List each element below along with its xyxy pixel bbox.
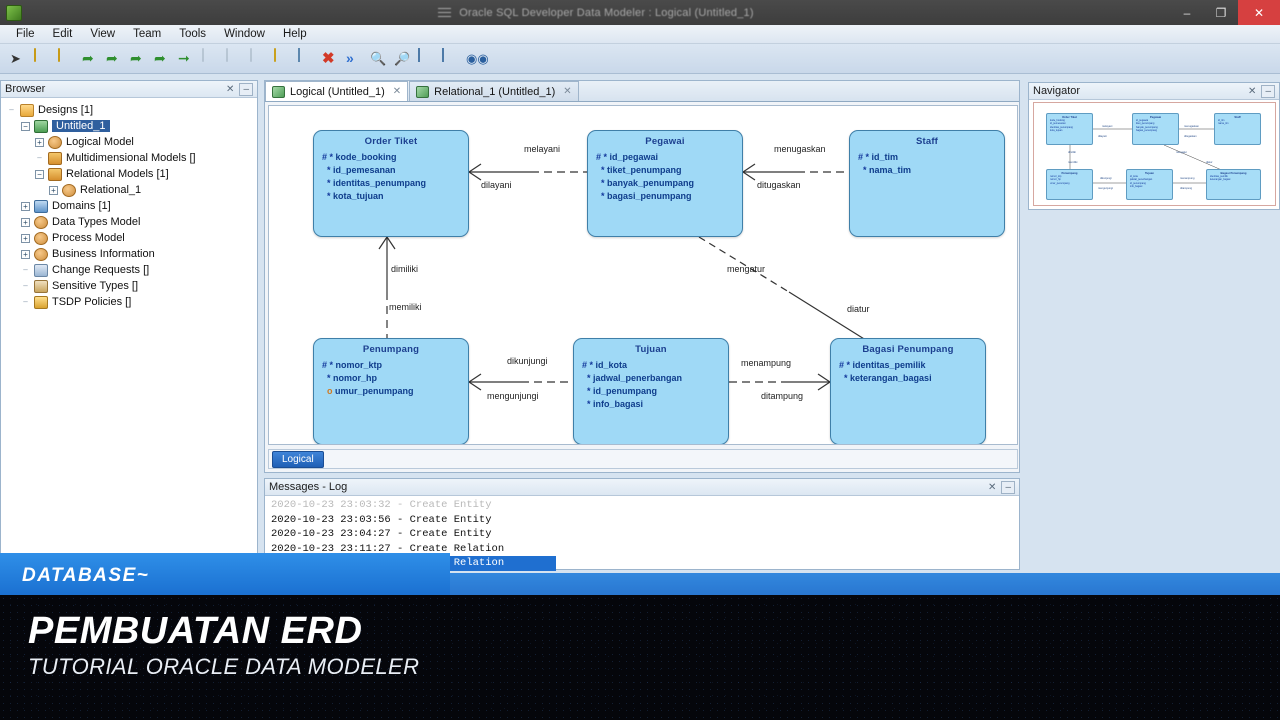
entity-attribute: * bagasi_penumpang [596,190,742,203]
navigator-panel-title: Navigator [1033,85,1243,97]
attribute-name: jadwal_penerbangan [593,373,682,383]
sens-icon [34,280,48,293]
delete-icon[interactable]: ✖ [322,49,341,68]
log-line[interactable]: 2020-10-23 23:04:27 - Create Entity [271,527,1013,542]
navigator-relationship-label: dimiliki [1068,151,1076,154]
attribute-name: identitas_penumpang [333,178,426,188]
expander-icon[interactable]: − [35,170,44,179]
navigator-entity-attribute: nama_tim [1215,122,1260,125]
navigator-thumbnail[interactable]: Order Tiketkode_bookingid_pemesananident… [1033,102,1276,206]
window-icon[interactable] [442,49,461,68]
relationship-label[interactable]: ditugaskan [757,180,801,190]
model-icon [62,184,76,197]
tree-connector-icon: – [21,282,30,291]
entity-box[interactable]: Penumpang# * nomor_ktp * nomor_hp o umur… [313,338,469,445]
relation-icon[interactable]: ➦ [154,49,173,68]
tree-item[interactable]: –Multidimensional Models [] [3,150,255,166]
entity-attribute: # * id_pegawai [596,151,742,164]
title-bar: Oracle SQL Developer Data Modeler : Logi… [0,0,1280,25]
entity-attribute: * identitas_penumpang [322,177,468,190]
tree-item-label: Sensitive Types [] [52,280,138,292]
navigator-relationship-label: mengatur [1176,151,1187,154]
log-panel-title: Messages - Log [269,481,983,493]
diagram-canvas[interactable]: Order Tiket# * kode_booking * id_pemesan… [268,105,1018,445]
relationship-label[interactable]: mengatur [727,264,765,274]
relationship-label[interactable]: mengunjungi [487,391,539,401]
relationship-label[interactable]: menugaskan [774,144,826,154]
tsdp-icon [34,296,48,309]
browser-panel-header: Browser ✕ – [1,81,257,98]
diagram-entities-layer: Order Tiket# * kode_booking * id_pemesan… [269,106,1017,444]
model-icon [34,232,48,245]
tree-item[interactable]: −Relational Models [1] [3,166,255,182]
navigator-relationship-label: memiliki [1068,161,1077,164]
application-window: Oracle SQL Developer Data Modeler : Logi… [0,0,1280,600]
view-icon[interactable]: ➦ [106,49,125,68]
entity-title: Pegawai [588,131,742,147]
tree-item[interactable]: +Logical Model [3,134,255,150]
entity-attribute: # * id_tim [858,151,1004,164]
attribute-name: nomor_ktp [336,360,383,370]
tree-item-label: Business Information [52,248,155,260]
box2-icon [226,49,245,68]
tree-item-label: Relational_1 [80,184,141,196]
model-icon [34,248,48,261]
attribute-name: id_pegawai [610,152,659,162]
attribute-name: tiket_penumpang [607,165,682,175]
fit-screen-icon[interactable] [418,49,437,68]
tree-item[interactable]: –TSDP Policies [] [3,294,255,310]
navigator-entity: Pegawaiid_pegawaitiket_penumpangbanyak_p… [1132,113,1179,145]
zoom-out-icon[interactable]: 🔎 [394,49,413,68]
tree-item-label: Data Types Model [52,216,140,228]
attribute-name: id_kota [596,360,628,370]
table-icon[interactable]: ➦ [130,49,149,68]
navigator-panel-header: Navigator ✕ – [1029,83,1279,100]
design-icon [34,120,48,133]
tree-item[interactable]: +Process Model [3,230,255,246]
relationship-label[interactable]: ditampung [761,391,803,401]
entity-icon[interactable]: ➦ [82,49,101,68]
menu-item-edit[interactable]: Edit [45,26,81,42]
menu-hamburger-icon[interactable] [438,5,451,20]
menu-item-window[interactable]: Window [216,26,273,42]
relationship-label[interactable]: dikunjungi [507,356,548,366]
menu-item-file[interactable]: File [8,26,43,42]
tree-item[interactable]: +Relational_1 [3,182,255,198]
primary-key-marker: # [322,360,330,370]
tree-item-label: Multidimensional Models [] [66,152,196,164]
entity-attribute: * jadwal_penerbangan [582,372,728,385]
primary-key-marker: # [839,360,847,370]
video-title-banner: DATABASE~ PEMBUATAN ERD TUTORIAL ORACLE … [0,553,1280,720]
note-icon[interactable] [274,49,293,68]
entity-title: Order Tiket [314,131,468,147]
tree-item[interactable]: +Business Information [3,246,255,262]
open-model-icon[interactable] [58,49,77,68]
navigator-entity: Staffid_timnama_tim [1214,113,1261,145]
relationship-label[interactable]: memiliki [389,302,422,312]
log-line[interactable]: 2020-10-23 23:03:56 - Create Entity [271,513,1013,528]
close-icon[interactable]: ✕ [988,482,996,493]
folder-icon [20,104,34,117]
tree-item-label: TSDP Policies [] [52,296,131,308]
tree-item[interactable]: +Domains [1] [3,198,255,214]
navigator-entity-attribute: bagasi_penumpang [1133,129,1178,132]
entity-attribute: * nomor_hp [322,372,468,385]
zoom-in-icon[interactable]: 🔍 [370,49,389,68]
log-line[interactable]: 2020-10-23 23:03:32 - Create Entity [271,498,1013,513]
log-panel-header: Messages - Log ✕ – [265,479,1019,496]
attribute-name: umur_penumpang [335,386,414,396]
image-icon[interactable] [298,49,317,68]
tree-item-label: Change Requests [] [52,264,149,276]
entity-attribute: * keterangan_bagasi [839,372,985,385]
navigator-entity: Tujuanid_kotajadwal_penerbanganid_penump… [1126,169,1173,200]
entity-title: Bagasi Penumpang [831,339,985,355]
navigator-entity-attribute: kota_tujuan [1047,129,1092,132]
attribute-name: nomor_hp [333,373,377,383]
entity-attribute: # * id_kota [582,359,728,372]
view-logical-button[interactable]: Logical [272,451,324,468]
banner-subtitle: TUTORIAL ORACLE DATA MODELER [28,654,419,680]
navigator-entity-attribute: umur_penumpang [1047,182,1092,185]
relationship-label[interactable]: dimiliki [391,264,418,274]
tree-item-label: Domains [1] [52,200,111,212]
minimize-icon[interactable]: – [1261,85,1275,98]
navigator-entity: Order Tiketkode_bookingid_pemesananident… [1046,113,1093,145]
menu-item-team[interactable]: Team [125,26,169,42]
attribute-name: id_pemesanan [333,165,396,175]
banner-kicker: DATABASE~ [22,565,149,587]
window-title: Oracle SQL Developer Data Modeler : Logi… [459,7,753,19]
close-icon[interactable]: ✕ [226,84,234,95]
entity-attribute: * id_penumpang [582,385,728,398]
attribute-name: kode_booking [336,152,397,162]
diagram-editor: Logical (Untitled_1)✕Relational_1 (Untit… [264,80,1020,473]
entity-title: Penumpang [314,339,468,355]
entity-attribute: # * identitas_pemilik [839,359,985,372]
entity-attribute: # * nomor_ktp [322,359,468,372]
maximize-button[interactable]: ❐ [1204,0,1238,25]
tree-item-label: Process Model [52,232,125,244]
expander-icon[interactable]: + [35,138,44,147]
expander-icon[interactable]: + [21,202,30,211]
entity-attribute: * nama_tim [858,164,1004,177]
entity-attribute-list: # * identitas_pemilik * keterangan_bagas… [831,355,985,385]
navigator-panel: Navigator ✕ – Order Tiketkode_bookingid_… [1028,82,1280,210]
attribute-name: id_penumpang [593,386,657,396]
expander-icon[interactable]: + [49,186,58,195]
multi-icon [48,168,62,181]
attribute-name: keterangan_bagasi [850,373,932,383]
navigator-entity-attribute: info_bagasi [1127,185,1172,188]
forward-icon[interactable]: » [346,49,365,68]
primary-key-marker: # [322,152,330,162]
optional-marker: o [327,386,335,396]
entity-attribute: * tiket_penumpang [596,164,742,177]
navigator-relationship-label: mengunjungi [1098,187,1113,190]
new-model-icon[interactable] [34,49,53,68]
close-icon[interactable]: ✕ [1248,86,1256,97]
entity-attribute-list: # * nomor_ktp * nomor_hp o umur_penumpan… [314,355,468,398]
navigator-entity: Bagasi Penumpangidentitas_pemilikketeran… [1206,169,1261,200]
domain-icon [34,200,48,213]
view-mode-bar: Logical [268,449,1018,469]
attribute-name: kota_tujuan [333,191,384,201]
entity-attribute: * info_bagasi [582,398,728,411]
browser-panel: Browser ✕ – –Designs [1]−Untitled_1+Logi… [0,80,258,570]
tree-item-label: Logical Model [66,136,134,148]
toolbar: ➤ ➦ ➦ ➦ ➦ ➞ ✖ » 🔍 🔎 ◉◉ [0,44,1280,74]
tree-connector-icon: – [7,106,16,115]
navigator-entity: Penumpangnomor_ktpnomor_hpumur_penumpang [1046,169,1093,200]
app-logo-icon [6,5,22,21]
expander-icon[interactable]: + [21,250,30,259]
attribute-name: identitas_pemilik [853,360,926,370]
navigator-relationship-label: diatur [1206,161,1213,164]
tree-item[interactable]: –Designs [1] [3,102,255,118]
editor-tab-strip: Logical (Untitled_1)✕Relational_1 (Untit… [265,81,1019,102]
primary-key-marker: # [582,360,590,370]
menu-item-help[interactable]: Help [275,26,315,42]
expander-icon[interactable]: + [21,234,30,243]
menu-bar: File Edit View Team Tools Window Help [0,25,1280,44]
entity-attribute: o umur_penumpang [322,385,468,398]
close-icon[interactable]: ✕ [393,86,401,97]
tree-item-label: Designs [1] [38,104,93,116]
box3-icon [250,49,269,68]
navigator-relationship-label: menugaskan [1184,125,1199,128]
pointer-icon[interactable]: ➤ [10,49,29,68]
minimize-icon[interactable]: – [239,83,253,96]
menu-item-tools[interactable]: Tools [171,26,214,42]
relationship-label[interactable]: dilayani [481,180,512,190]
model-icon [34,216,48,229]
editor-tab-label: Logical (Untitled_1) [290,86,385,98]
attribute-name: info_bagasi [593,399,643,409]
box1-icon [202,49,221,68]
entity-title: Staff [850,131,1004,147]
tree-item-label: Untitled_1 [52,120,110,132]
primary-key-marker: # [858,152,866,162]
tree-connector-icon: – [35,154,44,163]
model-icon [48,136,62,149]
search-icon[interactable]: ◉◉ [466,49,485,68]
relationship-label[interactable]: diatur [847,304,870,314]
navigator-relationship-label: ditugaskan [1184,135,1197,138]
banner-title: PEMBUATAN ERD [28,610,362,653]
window-title-area: Oracle SQL Developer Data Modeler : Logi… [22,5,1170,20]
navigator-relationship-label: melayani [1102,125,1112,128]
window-controls: – ❐ ✕ [1170,0,1280,25]
close-button[interactable]: ✕ [1238,0,1280,25]
navigator-relationship-label: dikunjungi [1100,177,1112,180]
tree-item[interactable]: –Change Requests [] [3,262,255,278]
editor-tab[interactable]: Relational_1 (Untitled_1)✕ [409,81,578,101]
diagram-icon [416,86,429,98]
navigator-relationship-label: dilayani [1098,135,1107,138]
tree-item[interactable]: +Data Types Model [3,214,255,230]
tree-item-label: Relational Models [1] [66,168,169,180]
entity-attribute-list: # * kode_booking * id_pemesanan * identi… [314,147,468,203]
tree-connector-icon: – [21,298,30,307]
tree-item[interactable]: −Untitled_1 [3,118,255,134]
entity-box[interactable]: Bagasi Penumpang# * identitas_pemilik * … [830,338,986,445]
entity-attribute: * id_pemesanan [322,164,468,177]
req-icon [34,264,48,277]
entity-box[interactable]: Order Tiket# * kode_booking * id_pemesan… [313,130,469,237]
tree-item[interactable]: –Sensitive Types [] [3,278,255,294]
close-icon[interactable]: ✕ [563,86,571,97]
relationship-label[interactable]: melayani [524,144,560,154]
minimize-icon[interactable]: – [1001,481,1015,494]
entity-box[interactable]: Staff# * id_tim * nama_tim [849,130,1005,237]
diagram-icon [272,86,285,98]
navigator-entity-attribute: keterangan_bagasi [1207,178,1260,181]
entity-attribute-list: # * id_kota * jadwal_penerbangan * id_pe… [574,355,728,411]
entity-box[interactable]: Pegawai# * id_pegawai * tiket_penumpang … [587,130,743,237]
entity-box[interactable]: Tujuan# * id_kota * jadwal_penerbangan *… [573,338,729,445]
entity-attribute-list: # * id_tim * nama_tim [850,147,1004,177]
arrow-right-icon[interactable]: ➞ [178,49,197,68]
attribute-name: nama_tim [869,165,911,175]
menu-item-view[interactable]: View [82,26,123,42]
minimize-button[interactable]: – [1170,0,1204,25]
tree-connector-icon: – [21,266,30,275]
attribute-name: bagasi_penumpang [607,191,692,201]
editor-tab-label: Relational_1 (Untitled_1) [434,86,555,98]
multi-icon [48,152,62,165]
primary-key-marker: # [596,152,604,162]
navigator-relationship-label: menampung [1180,177,1194,180]
entity-attribute: # * kode_booking [322,151,468,164]
relationship-label[interactable]: menampung [741,358,791,368]
expander-icon[interactable]: − [21,122,30,131]
editor-tab[interactable]: Logical (Untitled_1)✕ [265,81,408,101]
attribute-name: banyak_penumpang [607,178,694,188]
entity-attribute: * banyak_penumpang [596,177,742,190]
attribute-name: id_tim [872,152,899,162]
entity-title: Tujuan [574,339,728,355]
browser-panel-title: Browser [5,83,221,95]
design-tree[interactable]: –Designs [1]−Untitled_1+Logical Model–Mu… [1,98,257,314]
entity-attribute-list: # * id_pegawai * tiket_penumpang * banya… [588,147,742,203]
expander-icon[interactable]: + [21,218,30,227]
entity-attribute: * kota_tujuan [322,190,468,203]
navigator-relationship-label: ditampung [1180,187,1192,190]
